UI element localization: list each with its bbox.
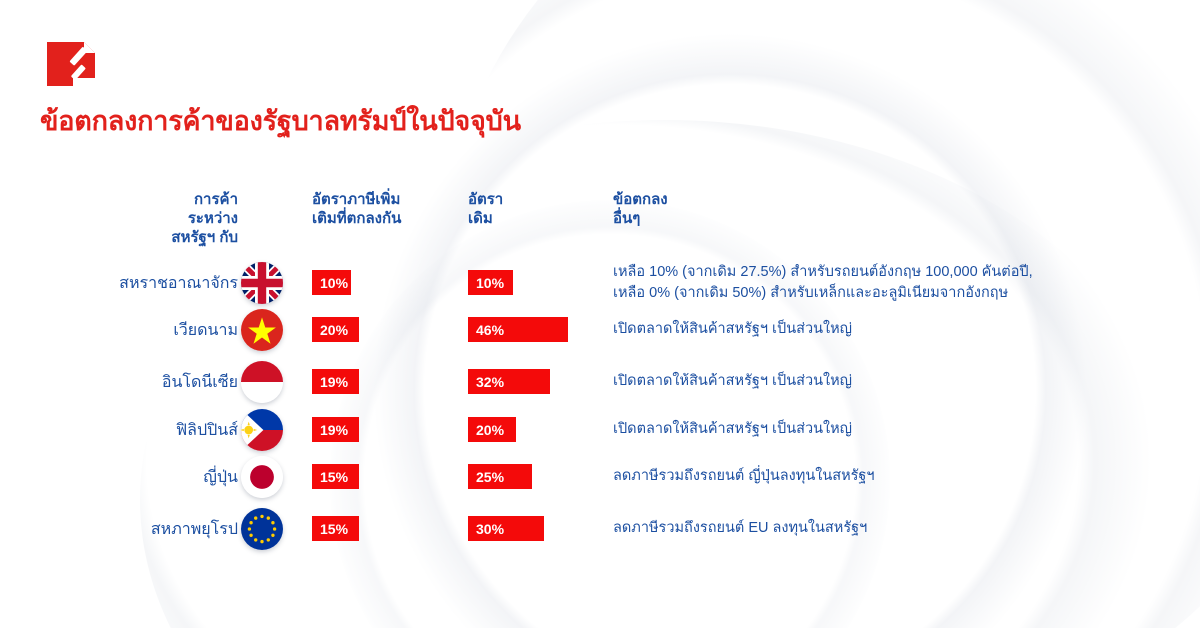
flag-european-union-icon <box>241 508 283 550</box>
flag-japan-icon <box>241 456 283 498</box>
old-rate-bar: 25% <box>468 464 532 489</box>
country-label: สหราชอาณาจักร <box>0 259 238 307</box>
notes-text: เปิดตลาดให้สินค้าสหรัฐฯ เป็นส่วนใหญ่ <box>613 306 1173 354</box>
flag-philippines-icon <box>241 409 283 451</box>
trade-deals-table: การค้า ระหว่าง สหรัฐฯ กับ อัตราภาษีเพิ่ม… <box>0 0 1200 628</box>
country-label: ญี่ปุ่น <box>0 453 238 501</box>
old-rate-bar: 10% <box>468 270 513 295</box>
flag-indonesia-icon <box>241 361 283 403</box>
table-row: อินโดนีเซีย 19% 32% เปิดตลาดให้สินค้าสหร… <box>0 358 1200 406</box>
column-header-new-rate: อัตราภาษีเพิ่ม เติมที่ตกลงกัน <box>312 190 462 228</box>
column-header-old-rate: อัตรา เดิม <box>468 190 598 228</box>
table-row: ญี่ปุ่น 15% 25% ลดภาษีรวมถึงรถยนต์ ญี่ปุ… <box>0 453 1200 501</box>
country-label: สหภาพยุโรป <box>0 505 238 553</box>
table-row: เวียดนาม 20% 46% เปิดตลาดให้สินค้าสหรัฐฯ… <box>0 306 1200 354</box>
notes-text: ลดภาษีรวมถึงรถยนต์ EU ลงทุนในสหรัฐฯ <box>613 505 1173 553</box>
infographic-page: ข้อตกลงการค้าของรัฐบาลทรัมป์ในปัจจุบัน ก… <box>0 0 1200 628</box>
notes-text: ลดภาษีรวมถึงรถยนต์ ญี่ปุ่นลงทุนในสหรัฐฯ <box>613 453 1173 501</box>
new-rate-bar: 19% <box>312 417 359 442</box>
old-rate-bar: 20% <box>468 417 516 442</box>
notes-text: เปิดตลาดให้สินค้าสหรัฐฯ เป็นส่วนใหญ่ <box>613 406 1173 454</box>
country-label: เวียดนาม <box>0 306 238 354</box>
column-header-notes: ข้อตกลง อื่นๆ <box>613 190 1133 228</box>
old-rate-bar: 46% <box>468 317 568 342</box>
notes-text: เปิดตลาดให้สินค้าสหรัฐฯ เป็นส่วนใหญ่ <box>613 358 1173 406</box>
flag-united-kingdom-icon <box>241 262 283 304</box>
new-rate-bar: 15% <box>312 516 359 541</box>
old-rate-bar: 30% <box>468 516 544 541</box>
new-rate-bar: 15% <box>312 464 359 489</box>
column-header-country: การค้า ระหว่าง สหรัฐฯ กับ <box>0 190 238 248</box>
notes-text: เหลือ 10% (จากเดิม 27.5%) สำหรับรถยนต์อั… <box>613 259 1173 307</box>
table-row: สหภาพยุโรป <box>0 505 1200 553</box>
table-row: สหราชอาณาจักร 10% 10% เหลือ 10% (จากเดิม… <box>0 259 1200 307</box>
new-rate-bar: 20% <box>312 317 359 342</box>
flag-vietnam-icon <box>241 309 283 351</box>
new-rate-bar: 19% <box>312 369 359 394</box>
old-rate-bar: 32% <box>468 369 550 394</box>
country-label: ฟิลิปปินส์ <box>0 406 238 454</box>
country-label: อินโดนีเซีย <box>0 358 238 406</box>
table-row: ฟิลิปปินส์ 19% 20% เปิดตลาดให้สิ <box>0 406 1200 454</box>
new-rate-bar: 10% <box>312 270 351 295</box>
